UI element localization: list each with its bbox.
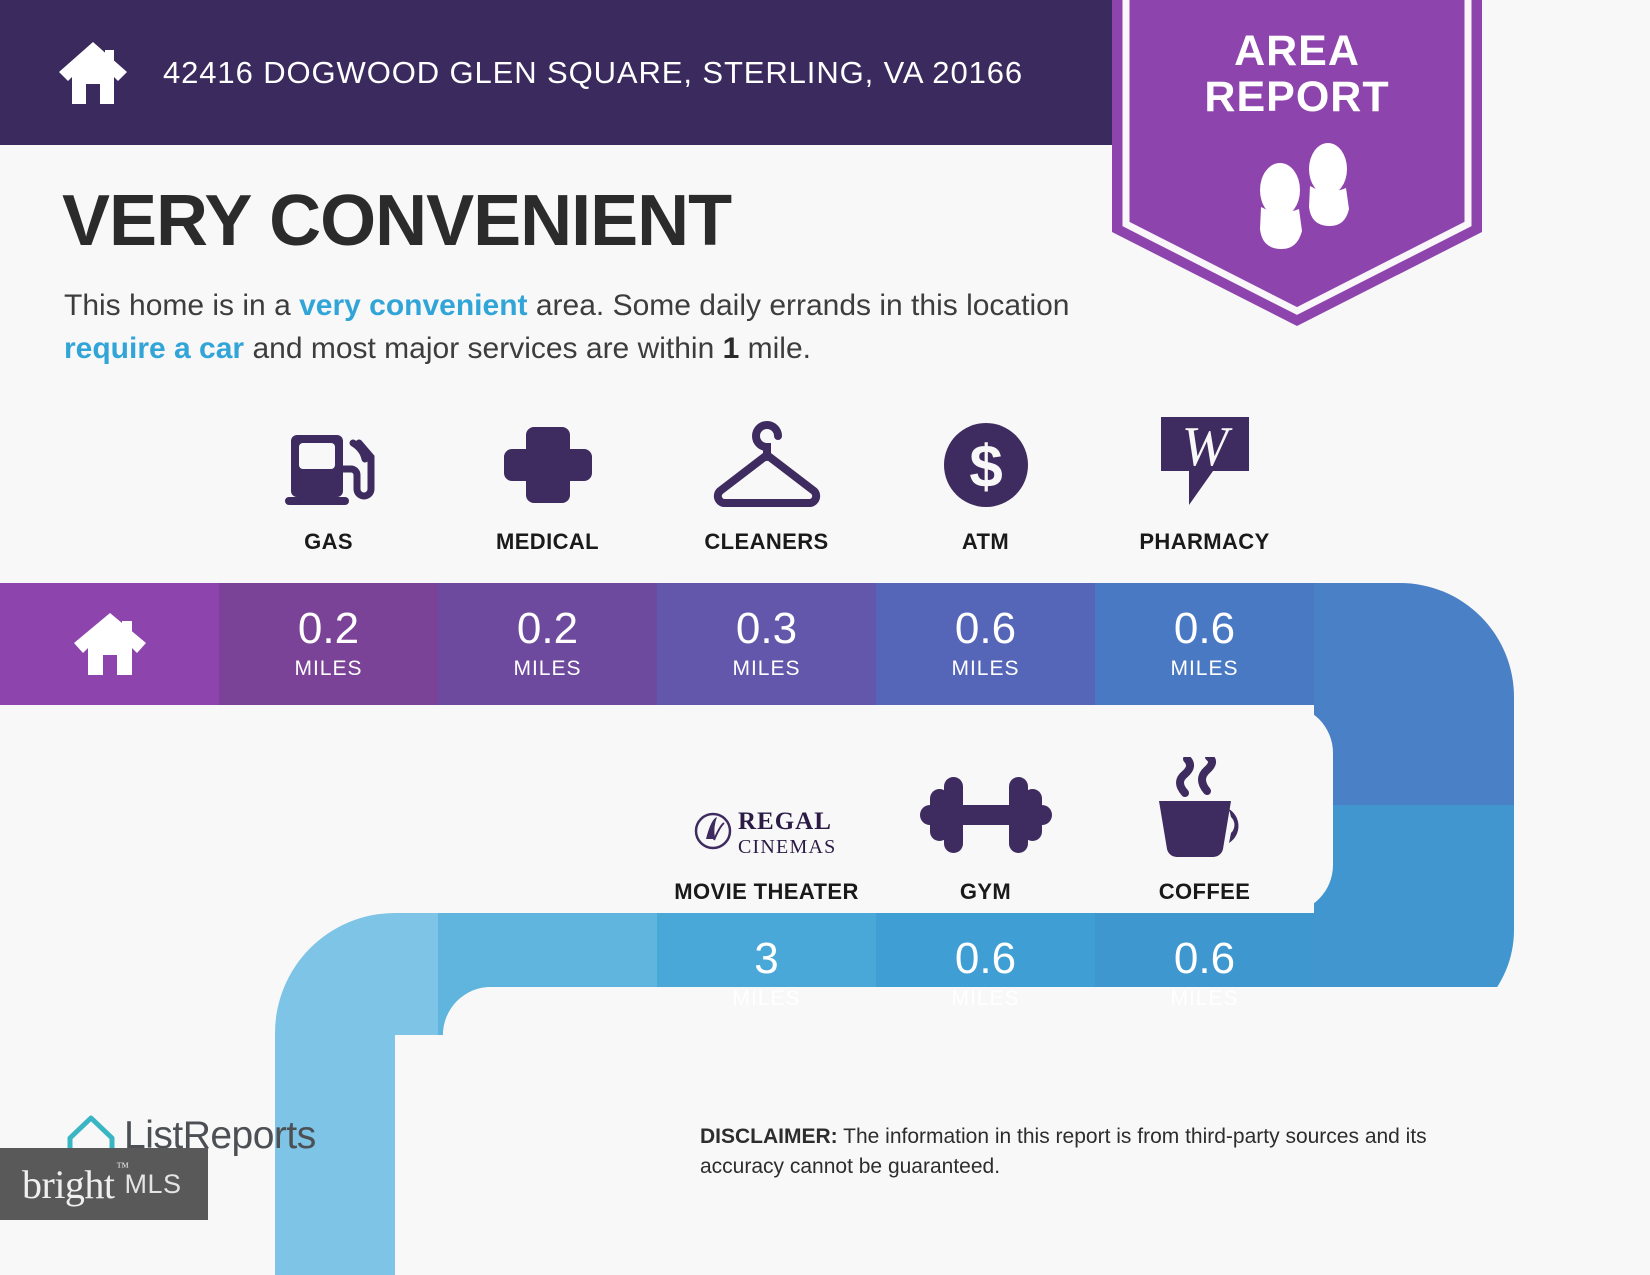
disclaimer-label: DISCLAIMER: bbox=[700, 1125, 838, 1148]
distance-cell-medical: 0.2 MILES bbox=[438, 583, 657, 705]
bright-text: bright bbox=[22, 1162, 115, 1207]
distance-unit: MILES bbox=[951, 657, 1019, 681]
svg-text:$: $ bbox=[969, 433, 1002, 500]
coffee-cup-icon bbox=[1145, 758, 1265, 863]
distance-cell-pharmacy: 0.6 MILES bbox=[1095, 583, 1314, 705]
svg-text:CINEMAS: CINEMAS bbox=[738, 836, 836, 858]
distance-unit: MILES bbox=[732, 987, 800, 1011]
amenity-movie-theater: REGAL CINEMAS MOVIE THEATER bbox=[657, 758, 876, 905]
svg-text:REGAL: REGAL bbox=[738, 808, 832, 835]
distance-cell-cleaners: 0.3 MILES bbox=[657, 583, 876, 705]
dollar-circle-icon: $ bbox=[936, 408, 1036, 513]
amenity-label: GAS bbox=[304, 529, 353, 555]
regal-cinemas-logo: REGAL CINEMAS bbox=[692, 758, 842, 863]
bright-wordmark: bright ™ bbox=[22, 1161, 115, 1208]
gas-pump-icon bbox=[279, 408, 379, 513]
amenity-gym: GYM bbox=[876, 758, 1095, 905]
medical-cross-icon bbox=[498, 408, 598, 513]
svg-text:W: W bbox=[1181, 416, 1232, 478]
amenity-label: ATM bbox=[962, 529, 1009, 555]
trademark-mark: ™ bbox=[116, 1159, 128, 1175]
amenity-label: GYM bbox=[960, 879, 1011, 905]
bright-mls-logo: bright ™ MLS bbox=[0, 1148, 208, 1220]
home-marker-cell bbox=[0, 583, 219, 705]
distance-unit: MILES bbox=[951, 987, 1019, 1011]
distance-value: 0.2 bbox=[298, 607, 359, 651]
distance-value: 3 bbox=[754, 937, 778, 981]
amenity-label: PHARMACY bbox=[1139, 529, 1269, 555]
amenity-label: MEDICAL bbox=[496, 529, 599, 555]
distance-cell-gas: 0.2 MILES bbox=[219, 583, 438, 705]
distance-row-2: 3 MILES 0.6 MILES 0.6 MILES bbox=[657, 913, 1314, 1035]
distance-cell-gym: 0.6 MILES bbox=[876, 913, 1095, 1035]
amenity-label: MOVIE THEATER bbox=[674, 879, 858, 905]
distance-unit: MILES bbox=[513, 657, 581, 681]
distance-value: 0.6 bbox=[955, 937, 1016, 981]
distance-value: 0.6 bbox=[1174, 937, 1235, 981]
amenity-coffee: COFFEE bbox=[1095, 758, 1314, 905]
distance-cell-movie-theater: 3 MILES bbox=[657, 913, 876, 1035]
mls-text: MLS bbox=[125, 1169, 182, 1200]
amenity-atm: $ ATM bbox=[876, 408, 1095, 555]
amenity-icon-row-1: GAS MEDICAL CLEANERS $ ATM bbox=[219, 408, 1314, 555]
distance-unit: MILES bbox=[732, 657, 800, 681]
amenity-label: COFFEE bbox=[1159, 879, 1251, 905]
amenity-pharmacy: W PHARMACY bbox=[1095, 408, 1314, 555]
distance-unit: MILES bbox=[294, 657, 362, 681]
home-icon bbox=[70, 609, 150, 679]
disclaimer: DISCLAIMER: The information in this repo… bbox=[700, 1122, 1515, 1183]
distance-row-1: 0.2 MILES 0.2 MILES 0.3 MILES 0.6 MILES … bbox=[219, 583, 1314, 705]
distance-value: 0.6 bbox=[955, 607, 1016, 651]
distance-value: 0.2 bbox=[517, 607, 578, 651]
distance-unit: MILES bbox=[1170, 987, 1238, 1011]
distance-cell-atm: 0.6 MILES bbox=[876, 583, 1095, 705]
amenity-icon-row-2: REGAL CINEMAS MOVIE THEATER GYM bbox=[657, 758, 1314, 905]
hanger-icon bbox=[708, 408, 826, 513]
distance-cell-coffee: 0.6 MILES bbox=[1095, 913, 1314, 1035]
amenity-cleaners: CLEANERS bbox=[657, 408, 876, 555]
amenity-gas: GAS bbox=[219, 408, 438, 555]
distance-unit: MILES bbox=[1170, 657, 1238, 681]
dumbbell-icon bbox=[916, 758, 1056, 863]
walgreens-w-icon: W bbox=[1153, 408, 1257, 513]
amenity-medical: MEDICAL bbox=[438, 408, 657, 555]
distance-value: 0.3 bbox=[736, 607, 797, 651]
distance-value: 0.6 bbox=[1174, 607, 1235, 651]
amenity-label: CLEANERS bbox=[704, 529, 828, 555]
